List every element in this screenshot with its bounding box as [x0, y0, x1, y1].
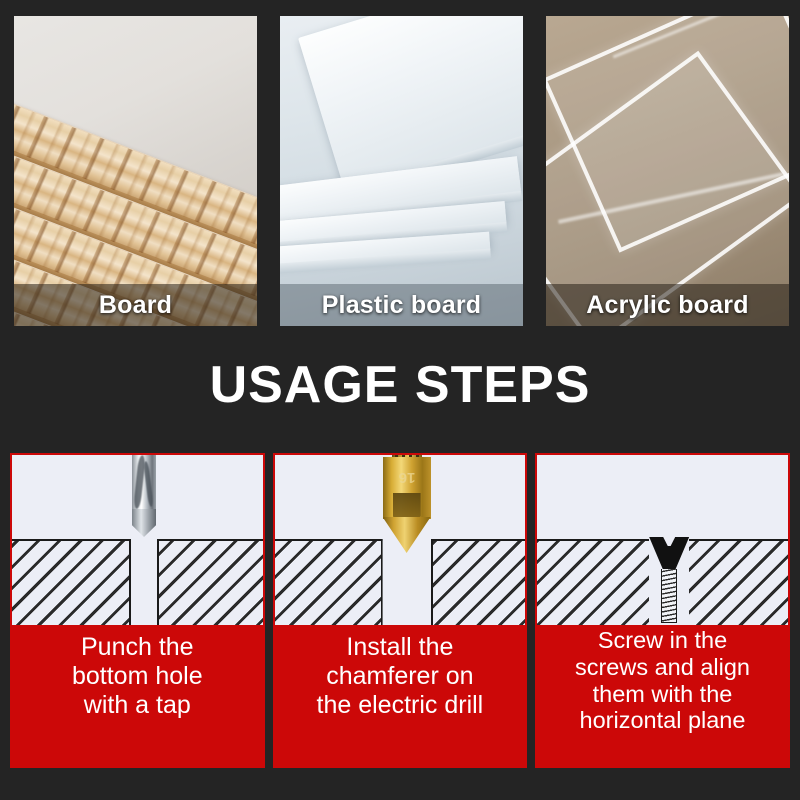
step-panel-install-chamferer[interactable]: 16 Install the chamferer on the electric… [273, 453, 528, 768]
wood-board-photo [14, 16, 257, 326]
usage-steps-row: Punch the bottom hole with a tap 16 [10, 453, 790, 768]
step-1-illustration [12, 455, 263, 625]
step-panel-screw-in[interactable]: Screw in the screws and align them with … [535, 453, 790, 768]
step-1-caption: Punch the bottom hole with a tap [20, 633, 255, 720]
step-panel-punch-hole[interactable]: Punch the bottom hole with a tap [10, 453, 265, 768]
twist-drill-bit-icon [131, 453, 157, 543]
step-3-line-2: screws and align [545, 654, 780, 681]
materials-strip: Board Plastic board Acrylic board [14, 16, 790, 326]
page-title: USAGE STEPS [0, 354, 800, 416]
step-3-line-4: horizontal plane [545, 707, 780, 734]
material-card-board[interactable]: Board [14, 16, 257, 326]
step-3-line-3: them with the [545, 681, 780, 708]
material-label-plastic-board: Plastic board [280, 284, 523, 326]
step-1-line-3: with a tap [20, 691, 255, 720]
step-3-line-1: Screw in the [545, 627, 780, 654]
step-2-line-1: Install the [283, 633, 518, 662]
material-card-acrylic-board[interactable]: Acrylic board [546, 16, 789, 326]
step-2-line-2: chamferer on [283, 662, 518, 691]
acrylic-board-photo [546, 16, 789, 326]
material-card-plastic-board[interactable]: Plastic board [280, 16, 523, 326]
step-2-illustration: 16 [275, 455, 526, 625]
step-1-line-2: bottom hole [20, 662, 255, 691]
plastic-board-photo [280, 16, 523, 326]
countersunk-screw-icon [649, 537, 689, 625]
chamfer-bit-icon: 16 [383, 453, 431, 557]
step-1-line-1: Punch the [20, 633, 255, 662]
step-2-caption: Install the chamferer on the electric dr… [283, 633, 518, 720]
step-3-illustration [537, 455, 788, 625]
material-label-acrylic-board: Acrylic board [546, 284, 789, 326]
chamfer-bit-marking: 16 [383, 469, 431, 486]
step-2-line-3: the electric drill [283, 691, 518, 720]
infographic-page: Board Plastic board Acrylic board [0, 0, 800, 800]
step-3-caption: Screw in the screws and align them with … [545, 627, 780, 734]
material-label-board: Board [14, 284, 257, 326]
